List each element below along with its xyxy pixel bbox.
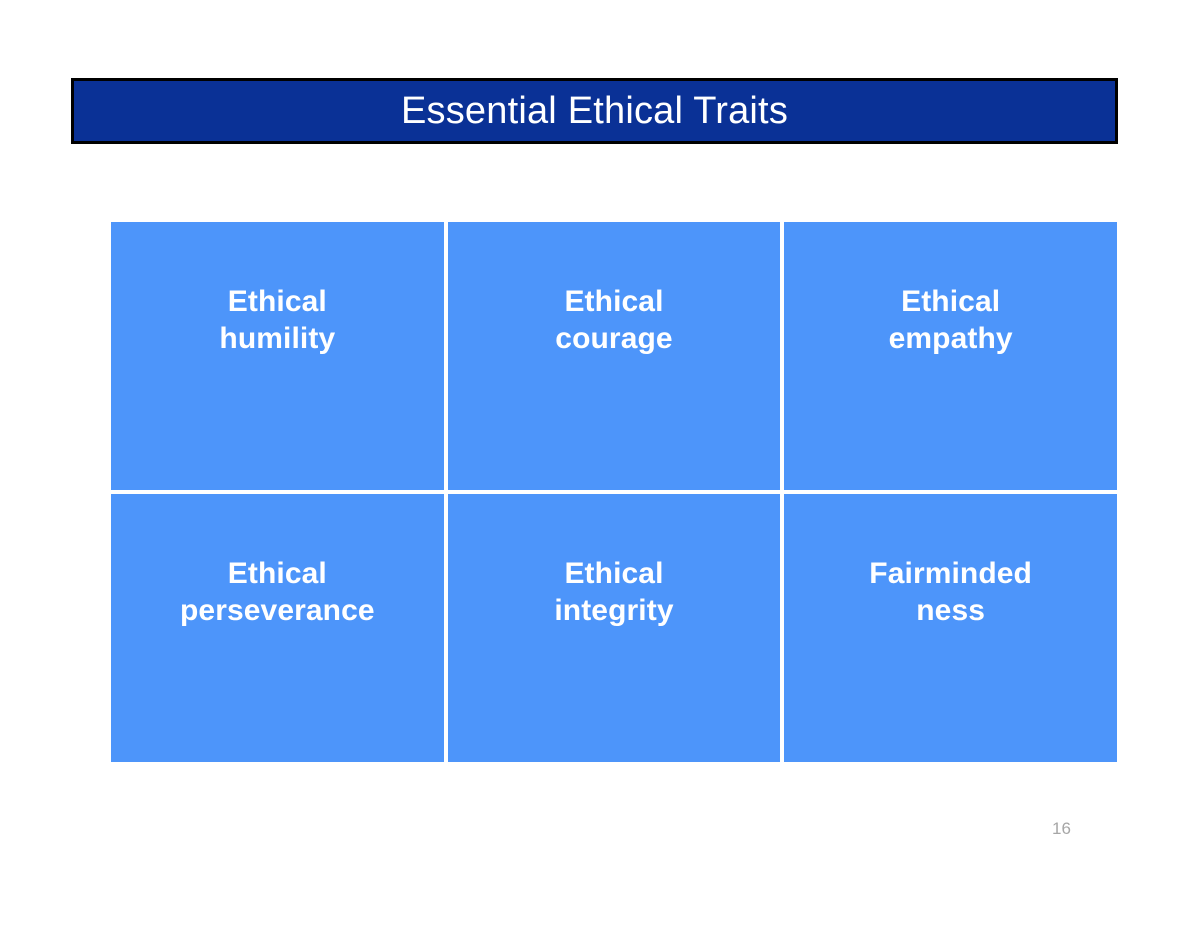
trait-cell-ethical-integrity[interactable]: Ethical integrity	[448, 494, 781, 762]
trait-cell-ethical-perseverance[interactable]: Ethical perseverance	[111, 494, 444, 762]
traits-table: Ethical humility Ethical courage Ethical…	[111, 222, 1117, 762]
trait-label: Ethical integrity	[554, 556, 673, 629]
trait-label: Ethical perseverance	[180, 556, 375, 629]
trait-cell-ethical-empathy[interactable]: Ethical empathy	[784, 222, 1117, 490]
trait-label: Ethical empathy	[889, 284, 1013, 357]
trait-cell-fairmindedness[interactable]: Fairminded ness	[784, 494, 1117, 762]
slide-canvas: Essential Ethical Traits Ethical humilit…	[0, 0, 1200, 927]
page-title: Essential Ethical Traits	[401, 92, 788, 130]
trait-label: Fairminded ness	[869, 556, 1032, 629]
trait-label: Ethical courage	[555, 284, 672, 357]
slide-title-banner: Essential Ethical Traits	[71, 78, 1118, 144]
trait-cell-ethical-humility[interactable]: Ethical humility	[111, 222, 444, 490]
trait-cell-ethical-courage[interactable]: Ethical courage	[448, 222, 781, 490]
trait-label: Ethical humility	[219, 284, 335, 357]
page-number: 16	[1052, 820, 1092, 837]
